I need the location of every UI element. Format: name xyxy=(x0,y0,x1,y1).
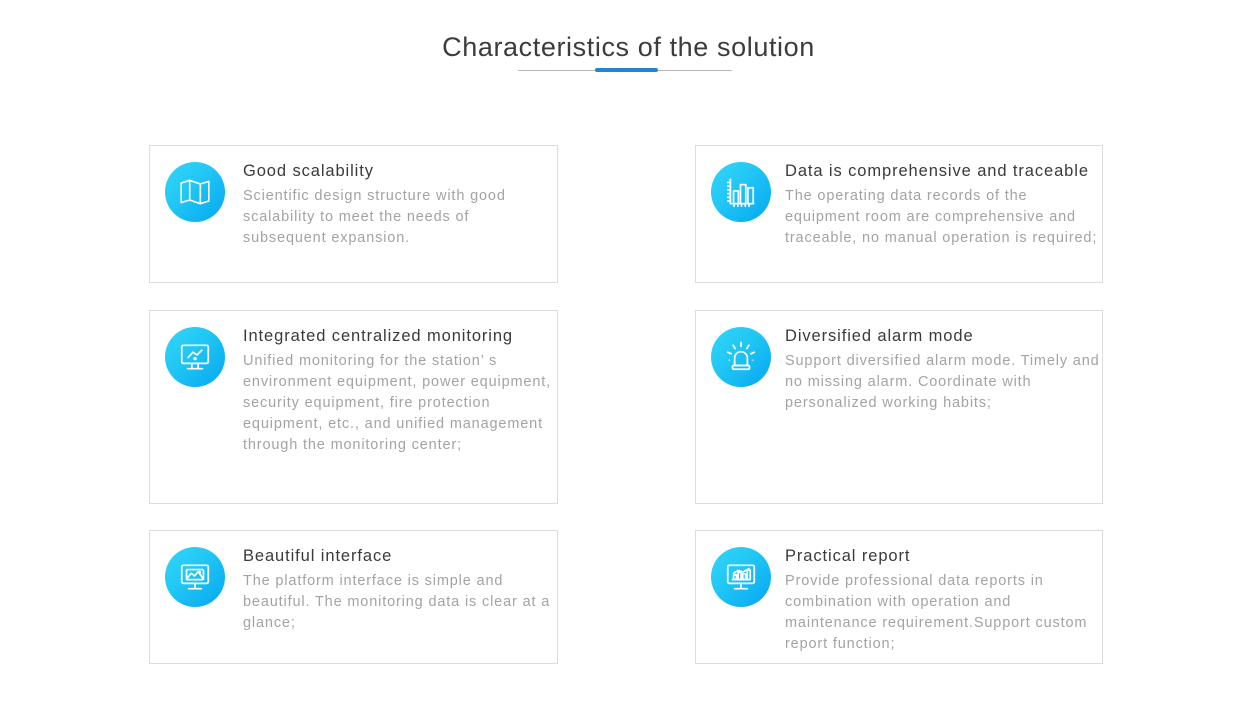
monitor-report-chart-icon xyxy=(711,547,771,607)
monitor-picture-icon xyxy=(165,547,225,607)
card-text-block: Diversified alarm mode Support diversifi… xyxy=(785,323,1257,414)
card-body: Scientific design structure with good sc… xyxy=(243,186,553,249)
slide-root: Characteristics of the solution Good sca… xyxy=(0,0,1257,720)
feature-card-centralized-monitoring[interactable]: Integrated centralized monitoring Unifie… xyxy=(149,310,558,504)
card-title: Data is comprehensive and traceable xyxy=(785,158,1257,184)
feature-card-beautiful-interface[interactable]: Beautiful interface The platform interfa… xyxy=(149,530,558,664)
feature-card-alarm-mode[interactable]: Diversified alarm mode Support diversifi… xyxy=(695,310,1103,504)
card-body: Unified monitoring for the station’ s en… xyxy=(243,351,553,456)
page-title-block: Characteristics of the solution xyxy=(0,28,1257,66)
card-title: Good scalability xyxy=(243,158,763,184)
monitor-workstation-icon xyxy=(165,327,225,387)
card-text-block: Integrated centralized monitoring Unifie… xyxy=(243,323,763,456)
folded-map-icon xyxy=(165,162,225,222)
card-body: Support diversified alarm mode. Timely a… xyxy=(785,351,1105,414)
bar-chart-axis-icon xyxy=(711,162,771,222)
card-text-block: Data is comprehensive and traceable The … xyxy=(785,158,1257,249)
alarm-siren-icon xyxy=(711,327,771,387)
card-text-block: Good scalability Scientific design struc… xyxy=(243,158,763,249)
card-title: Diversified alarm mode xyxy=(785,323,1257,349)
card-title: Practical report xyxy=(785,543,1257,569)
card-body: Provide professional data reports in com… xyxy=(785,571,1105,655)
card-body: The operating data records of the equipm… xyxy=(785,186,1105,249)
feature-card-good-scalability[interactable]: Good scalability Scientific design struc… xyxy=(149,145,558,283)
card-body: The platform interface is simple and bea… xyxy=(243,571,553,634)
feature-card-data-traceable[interactable]: Data is comprehensive and traceable The … xyxy=(695,145,1103,283)
card-title: Integrated centralized monitoring xyxy=(243,323,763,349)
card-text-block: Beautiful interface The platform interfa… xyxy=(243,543,763,634)
card-text-block: Practical report Provide professional da… xyxy=(785,543,1257,655)
title-divider-accent xyxy=(595,68,658,72)
page-title: Characteristics of the solution xyxy=(0,28,1257,66)
feature-card-practical-report[interactable]: Practical report Provide professional da… xyxy=(695,530,1103,664)
card-title: Beautiful interface xyxy=(243,543,763,569)
